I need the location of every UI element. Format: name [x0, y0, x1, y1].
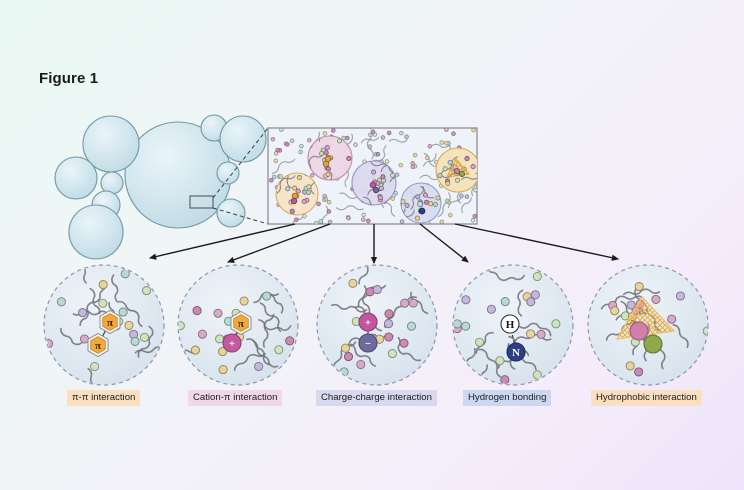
interaction-symbol — [630, 322, 648, 340]
condensate-bubble — [55, 157, 97, 199]
svg-text:π: π — [107, 317, 113, 329]
condensate-bubble — [217, 162, 239, 184]
interaction-tag-pi-pi: π-π interaction — [67, 390, 140, 406]
flow-arrow — [420, 224, 468, 262]
interaction-tag-cation-pi: Cation-π interaction — [188, 390, 282, 406]
condensate-group — [55, 115, 266, 259]
flow-arrow — [228, 224, 330, 262]
svg-text:+: + — [229, 338, 235, 350]
interaction-circle-hydrophobic[interactable] — [588, 265, 711, 385]
flow-arrow — [455, 224, 618, 259]
svg-text:H: H — [506, 319, 515, 331]
inset-panel — [268, 111, 491, 232]
interaction-tag-hydrogen-bonding: Hydrogen bonding — [463, 390, 551, 406]
interaction-symbol: − — [359, 334, 377, 352]
interaction-tag-hydrophobic: Hydrophobic interaction — [591, 390, 702, 406]
interaction-circle-cation-pi[interactable]: π+ — [172, 265, 298, 385]
interaction-tag-charge-charge: Charge-charge interaction — [316, 390, 437, 406]
condensate-bubble — [217, 199, 245, 227]
interaction-circle-pi-pi[interactable]: ππ — [44, 261, 179, 394]
interaction-symbol — [644, 335, 662, 353]
interaction-symbol: H — [501, 315, 519, 333]
inset-droplet-hydrophobic — [436, 148, 491, 192]
condensate-bubble — [69, 205, 123, 259]
interaction-symbol: + — [359, 313, 377, 331]
svg-text:N: N — [512, 347, 520, 359]
figure-root: Figure 1 Biomolecular condensate — [0, 0, 744, 490]
figure-canvas: πππ++−HN — [0, 0, 744, 490]
condensate-bubble — [220, 116, 266, 162]
svg-text:+: + — [365, 317, 371, 329]
interaction-circle-hydrogen-bonding[interactable]: HN — [451, 264, 573, 407]
arrow-group — [150, 224, 618, 263]
svg-text:π: π — [238, 318, 244, 330]
interaction-group: πππ++−HN — [44, 251, 711, 408]
svg-text:−: − — [365, 338, 371, 350]
interaction-symbol: N — [507, 343, 525, 361]
svg-text:π: π — [95, 340, 101, 352]
interaction-circle-charge-charge[interactable]: +− — [317, 251, 437, 385]
interaction-symbol: + — [223, 334, 241, 352]
flow-arrow — [150, 224, 295, 258]
